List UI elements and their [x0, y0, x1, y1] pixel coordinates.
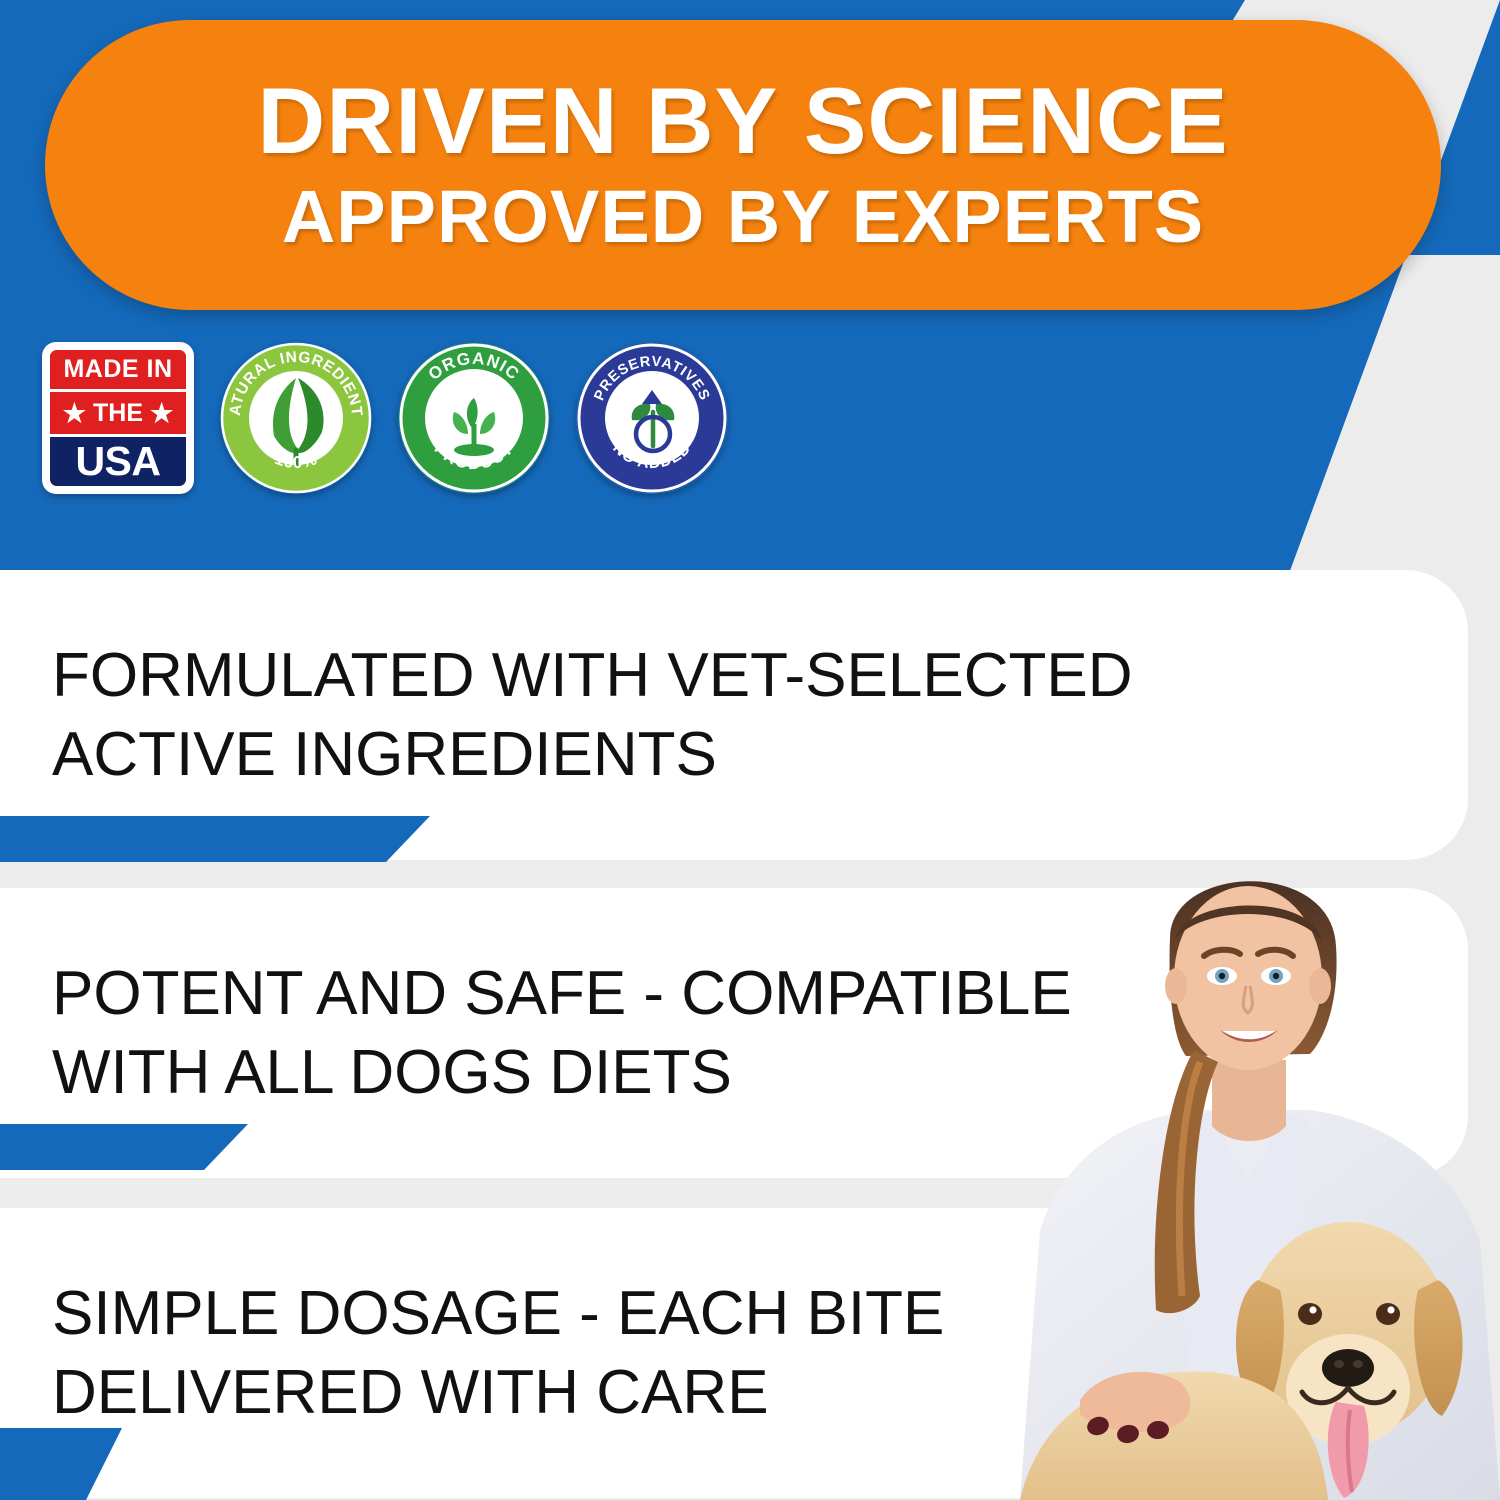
- benefit-card-2-text: POTENT AND SAFE - COMPATIBLE WITH ALL DO…: [0, 954, 1072, 1113]
- benefit-card-3-line-1: SIMPLE DOSAGE - EACH BITE: [52, 1274, 944, 1353]
- benefit-card-3-line-2: DELIVERED WITH CARE: [52, 1353, 944, 1432]
- usa-line-the: ★ THE ★: [50, 392, 186, 436]
- trust-badges-row: MADE IN ★ THE ★ USA: [42, 342, 728, 494]
- usa-line-made-in: MADE IN: [50, 350, 186, 392]
- usa-badge-inner: MADE IN ★ THE ★ USA: [47, 347, 189, 489]
- benefit-card-3-text: SIMPLE DOSAGE - EACH BITE DELIVERED WITH…: [0, 1274, 944, 1433]
- badge-made-in-usa: MADE IN ★ THE ★ USA: [42, 342, 194, 494]
- badge-natural-ingredients: NATURAL INGREDIENTS 100%: [220, 342, 372, 494]
- usa-line-usa: USA: [50, 437, 186, 486]
- badge-organic-product: ORGANIC PRODUCT: [398, 342, 550, 494]
- headline-line-2: APPROVED BY EXPERTS: [282, 178, 1204, 256]
- star-icon-left: ★: [63, 400, 86, 426]
- benefit-card-1-line-2: ACTIVE INGREDIENTS: [52, 715, 1133, 794]
- headline-line-1: DRIVEN BY SCIENCE: [257, 74, 1228, 168]
- infographic-root: DRIVEN BY SCIENCE APPROVED BY EXPERTS MA…: [0, 0, 1500, 1500]
- veterinarian-with-dog-photo: [980, 810, 1500, 1500]
- badge-no-added-preservatives: PRESERVATIVES NO ADDED: [576, 342, 728, 494]
- benefit-card-1-line-1: FORMULATED WITH VET-SELECTED: [52, 636, 1133, 715]
- headline-banner: DRIVEN BY SCIENCE APPROVED BY EXPERTS: [45, 20, 1441, 310]
- benefit-card-1-text: FORMULATED WITH VET-SELECTED ACTIVE INGR…: [0, 636, 1133, 795]
- benefit-card-2-line-2: WITH ALL DOGS DIETS: [52, 1033, 1072, 1112]
- blue-accent-stripe-1: [0, 816, 430, 862]
- benefit-card-2-line-1: POTENT AND SAFE - COMPATIBLE: [52, 954, 1072, 1033]
- usa-the-label: THE: [93, 399, 143, 428]
- star-icon-right: ★: [150, 400, 173, 426]
